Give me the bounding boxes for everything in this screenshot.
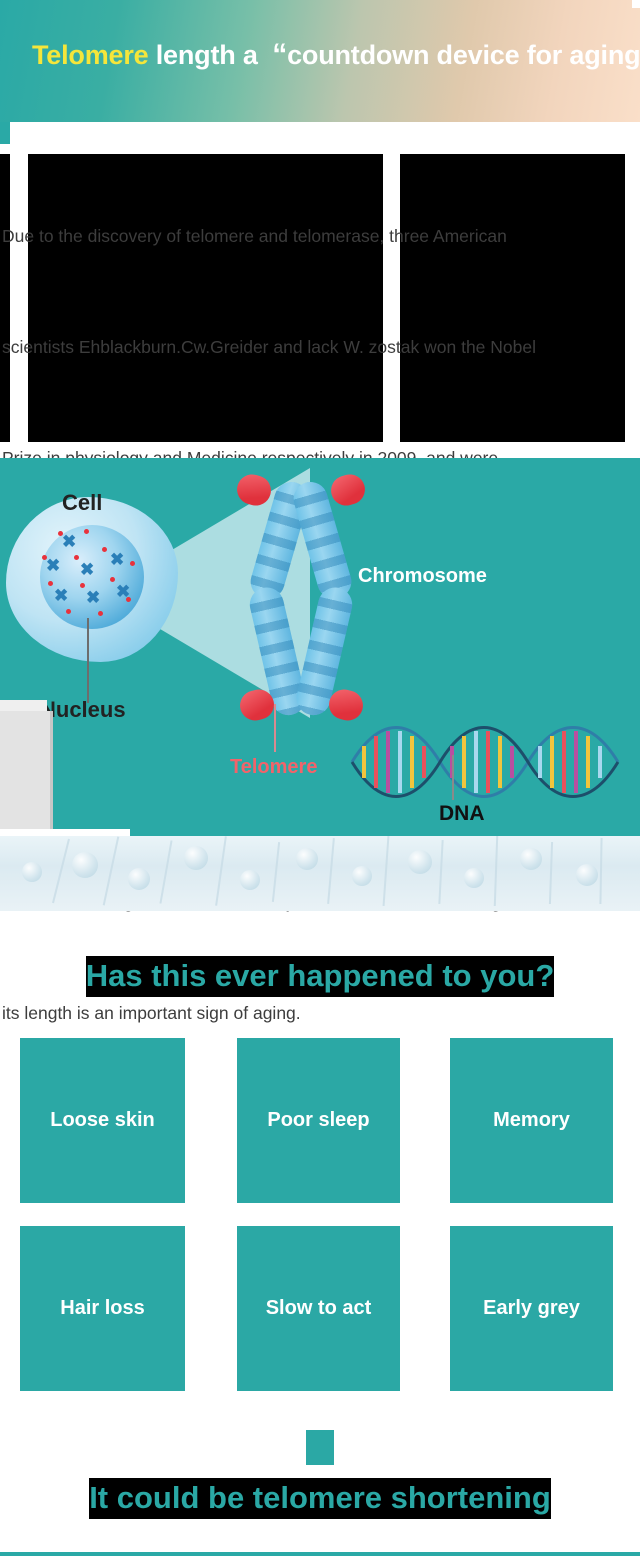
- symptom-tile-label: Slow to act: [266, 1297, 372, 1320]
- telomere-dot: [130, 561, 135, 566]
- header-banner: Telomere length a “countdown device for …: [0, 0, 640, 122]
- page-bottom-rule: [0, 1552, 640, 1556]
- section-heading-question-text: Has this ever happened to you?: [86, 956, 555, 997]
- illustration-bottom-accent: [0, 829, 130, 836]
- symptom-tile-label: Hair loss: [60, 1297, 144, 1320]
- mini-chromosome-icon: ✖: [54, 587, 68, 604]
- telomere-dot: [66, 609, 71, 614]
- telomere-dot: [74, 555, 79, 560]
- nucleus-leader-line: [87, 618, 89, 703]
- quote-open-glyph: “: [272, 38, 287, 71]
- telomere-dot: [42, 555, 47, 560]
- label-cell: Cell: [62, 490, 102, 516]
- dna-leader-line: [452, 755, 454, 800]
- header-left-accent-bar: [0, 122, 10, 144]
- nucleus-shape: ✖ ✖ ✖ ✖ ✖ ✖ ✖: [40, 525, 144, 629]
- telomere-dot: [126, 597, 131, 602]
- section-heading-question: Has this ever happened to you?: [0, 958, 640, 994]
- conclusion-heading-text: It could be telomere shortening: [89, 1478, 551, 1519]
- page-title-quote: countdown device for aging!: [287, 40, 640, 70]
- page-title-rest: length a: [148, 40, 257, 70]
- intro-paragraph-region: Due to the discovery of telomere and tel…: [0, 144, 640, 444]
- symptom-tile-label: Memory: [493, 1109, 570, 1132]
- telomere-dot: [80, 583, 85, 588]
- telomere-dot: [98, 611, 103, 616]
- conclusion-marker-square: [306, 1430, 334, 1465]
- label-telomere: Telomere: [230, 756, 317, 779]
- page-title: Telomere length a “countdown device for …: [32, 38, 640, 72]
- mini-chromosome-icon: ✖: [80, 561, 94, 578]
- paragraph-line: scientists Ehblackburn.Cw.Greider and la…: [2, 329, 640, 366]
- symptom-tile-memory[interactable]: Memory: [450, 1038, 613, 1203]
- conclusion-heading: It could be telomere shortening: [0, 1480, 640, 1516]
- symptom-tile-label: Poor sleep: [267, 1109, 369, 1132]
- paragraph-line: its length is an important sign of aging…: [2, 995, 640, 1032]
- symptom-tile-early-grey[interactable]: Early grey: [450, 1226, 613, 1391]
- label-dna: DNA: [439, 802, 485, 826]
- telomere-dot: [110, 577, 115, 582]
- telomere-dot: [84, 529, 89, 534]
- symptom-tile-hair-loss[interactable]: Hair loss: [20, 1226, 185, 1391]
- telomere-leader-line: [274, 704, 276, 752]
- mini-chromosome-icon: ✖: [86, 589, 100, 606]
- mini-chromosome-icon: ✖: [110, 551, 124, 568]
- mini-chromosome-icon: ✖: [62, 533, 76, 550]
- symptom-tile-slow-to-act[interactable]: Slow to act: [237, 1226, 400, 1391]
- page-title-highlight: Telomere: [32, 40, 148, 70]
- paragraph-line: Due to the discovery of telomere and tel…: [2, 218, 640, 255]
- symptom-tile-label: Early grey: [483, 1297, 580, 1320]
- left-overlay-panel-top: [0, 700, 47, 711]
- symptom-tile-label: Loose skin: [50, 1109, 154, 1132]
- telomere-dot: [48, 581, 53, 586]
- dna-photo-strip: [0, 836, 640, 911]
- telomere-dot: [58, 531, 63, 536]
- label-chromosome: Chromosome: [358, 565, 487, 588]
- mini-chromosome-icon: ✖: [46, 557, 60, 574]
- left-overlay-panel: [0, 711, 53, 829]
- symptom-tile-poor-sleep[interactable]: Poor sleep: [237, 1038, 400, 1203]
- telomere-dot: [102, 547, 107, 552]
- header-corner-accent: [632, 0, 640, 8]
- symptom-tile-loose-skin[interactable]: Loose skin: [20, 1038, 185, 1203]
- dna-helix-graphic: [350, 700, 635, 830]
